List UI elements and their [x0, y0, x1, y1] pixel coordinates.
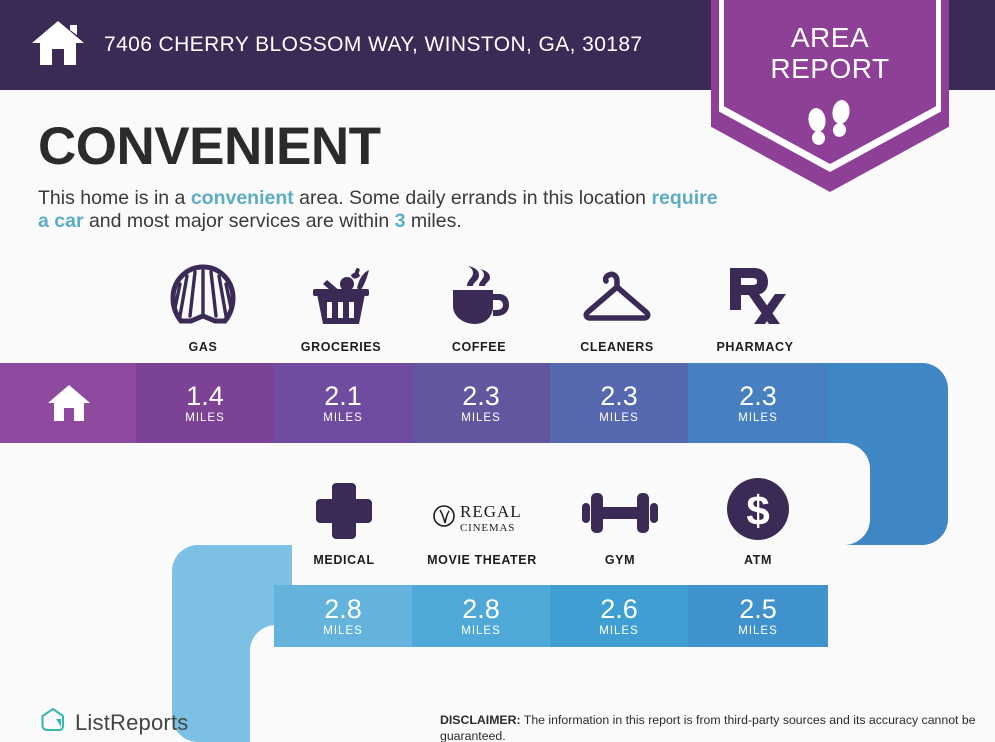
rx-icon	[724, 262, 786, 328]
header-content: 7406 CHERRY BLOSSOM WAY, WINSTON, GA, 30…	[30, 0, 643, 90]
amenity-label: GROCERIES	[301, 340, 381, 354]
summary-part-4: miles.	[405, 210, 461, 232]
amenity-label: CLEANERS	[580, 340, 654, 354]
ribbon-right-notch	[828, 443, 870, 545]
distance-unit: MILES	[461, 625, 501, 637]
summary-highlight-convenient: convenient	[191, 187, 294, 209]
distance-unit: MILES	[738, 412, 778, 424]
amenity-label: GAS	[189, 340, 218, 354]
distance-value: 1.4	[186, 383, 224, 410]
distance-unit: MILES	[599, 412, 639, 424]
disclaimer: DISCLAIMER: The information in this repo…	[440, 712, 985, 742]
amenity-icon-row-top: GAS	[134, 262, 824, 354]
amenity-label: COFFEE	[452, 340, 506, 354]
listreports-wordmark: ListReports	[75, 710, 188, 736]
badge-line-2: REPORT	[711, 53, 949, 84]
amenity-cleaners: CLEANERS	[548, 262, 686, 354]
house-icon	[30, 19, 86, 72]
distance-cell-gas: 1.4 MILES	[136, 363, 274, 443]
amenity-pharmacy: PHARMACY	[686, 262, 824, 354]
listreports-logo: ListReports	[40, 707, 188, 738]
distance-cell-groceries: 2.1 MILES	[274, 363, 412, 443]
badge-line-1: AREA	[711, 22, 949, 53]
listreports-house-icon	[40, 707, 66, 738]
summary-part-1: This home is in a	[38, 187, 191, 209]
area-report-infographic: 7406 CHERRY BLOSSOM WAY, WINSTON, GA, 30…	[0, 0, 995, 742]
amenity-gas: GAS	[134, 262, 272, 354]
page-title: CONVENIENT	[38, 118, 718, 176]
distance-value: 2.1	[324, 383, 362, 410]
distance-cell-pharmacy: 2.3 MILES	[688, 363, 828, 443]
amenity-label: PHARMACY	[716, 340, 793, 354]
footprints-icon	[711, 98, 949, 163]
house-icon	[46, 383, 92, 423]
distance-value: 2.8	[324, 596, 362, 623]
summary-text: This home is in a convenient area. Some …	[38, 187, 718, 233]
distance-unit: MILES	[738, 625, 778, 637]
disclaimer-label: DISCLAIMER:	[440, 713, 521, 727]
summary-highlight-miles: 3	[395, 210, 406, 232]
distance-cell-medical: 2.8 MILES	[274, 585, 412, 647]
header-address: 7406 CHERRY BLOSSOM WAY, WINSTON, GA, 30…	[104, 33, 643, 57]
distance-cell-movie-theater: 2.8 MILES	[412, 585, 550, 647]
distance-unit: MILES	[323, 625, 363, 637]
shell-icon	[169, 262, 237, 328]
badge-text-block: AREA REPORT	[711, 22, 949, 84]
summary-part-3: and most major services are within	[84, 210, 395, 232]
distance-cell-atm: 2.5 MILES	[688, 585, 828, 647]
distance-unit: MILES	[599, 625, 639, 637]
title-block: CONVENIENT This home is in a convenient …	[38, 118, 718, 233]
coat-hanger-icon	[578, 262, 656, 328]
disclaimer-text: The information in this report is from t…	[440, 713, 976, 742]
distance-cell-gym: 2.6 MILES	[550, 585, 688, 647]
coffee-cup-icon	[445, 262, 513, 328]
ribbon-home-cell	[0, 363, 138, 443]
distance-unit: MILES	[323, 412, 363, 424]
distance-cell-coffee: 2.3 MILES	[412, 363, 550, 443]
distance-cell-cleaners: 2.3 MILES	[550, 363, 688, 443]
distance-unit: MILES	[185, 412, 225, 424]
distance-value: 2.8	[462, 596, 500, 623]
distance-unit: MILES	[461, 412, 501, 424]
distance-value: 2.3	[600, 383, 638, 410]
distance-value: 2.5	[739, 596, 777, 623]
grocery-basket-icon	[307, 262, 375, 328]
amenity-coffee: COFFEE	[410, 262, 548, 354]
distance-value: 2.3	[739, 383, 777, 410]
distance-ribbon: 1.4 MILES 2.1 MILES 2.3 MILES 2.3 MILES …	[0, 363, 995, 742]
summary-part-2: area. Some daily errands in this locatio…	[294, 187, 652, 209]
amenity-groceries: GROCERIES	[272, 262, 410, 354]
distance-value: 2.6	[600, 596, 638, 623]
area-report-badge: AREA REPORT	[711, 0, 949, 192]
distance-value: 2.3	[462, 383, 500, 410]
